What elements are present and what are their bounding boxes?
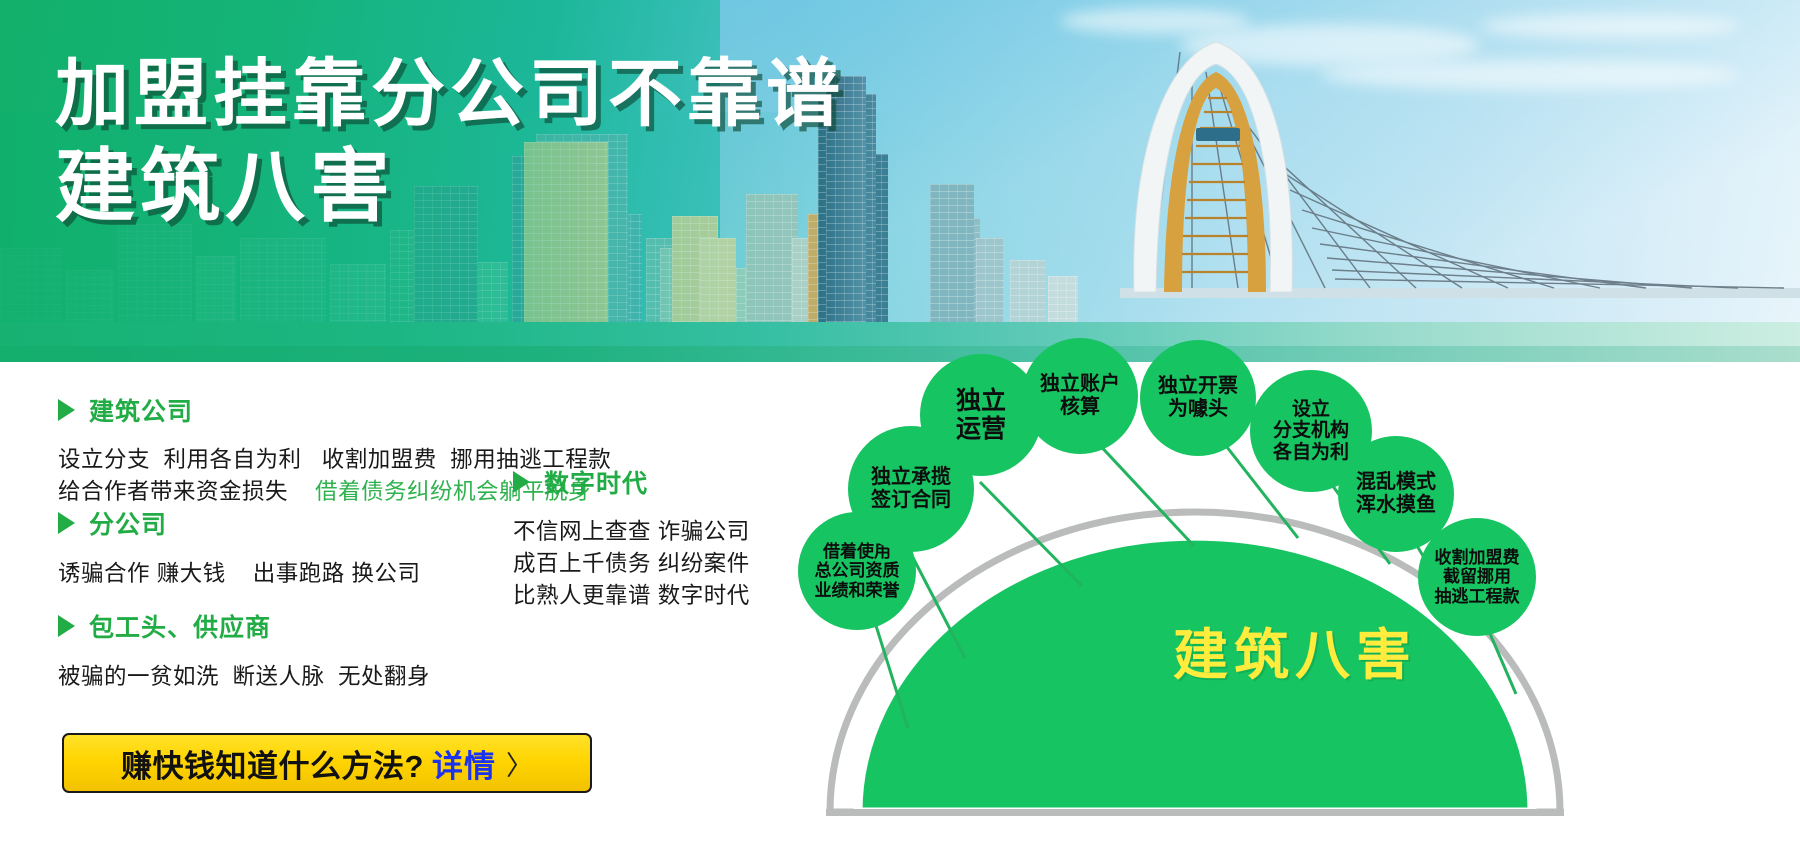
bubble-text: 独立承揽签订合同 [871,466,951,512]
dome-center-label: 建筑八害 [790,610,1800,690]
section-title: 分公司 [89,505,167,541]
cloud-decoration [1060,8,1250,34]
triangle-bullet-icon [58,399,75,421]
bubble-3[interactable]: 独立运营 [920,354,1042,476]
bubble-text: 独立运营 [956,387,1006,444]
hero-title: 加盟挂靠分公司不靠谱 建筑八害 [55,55,845,230]
section-title: 包工头、供应商 [89,608,271,644]
bubble-diagram: 借着使用总公司资质业绩和荣誉 独立承揽签订合同 独立运营 独立账户核算 独立开票… [790,332,1800,844]
hero-title-line2: 建筑八害 [55,145,845,230]
cta-question-label: 赚快钱知道什么方法? [121,741,424,786]
body-line: 比熟人更靠谱 数字时代 [513,580,750,612]
triangle-bullet-icon [58,512,75,534]
section-body: 诱骗合作 赚大钱 出事跑路 换公司 [58,558,421,590]
triangle-bullet-icon [58,615,75,637]
bubble-text: 收割加盟费截留挪用抽逃工程款 [1435,548,1520,606]
section-heading: 分公司 [58,505,421,541]
section-branch-company: 分公司 诱骗合作 赚大钱 出事跑路 换公司 [58,505,421,590]
cta-detail-link[interactable]: 详情 [432,741,496,786]
bubble-text: 混乱模式浑水摸鱼 [1356,471,1436,517]
body-line: 不信网上查查 诈骗公司 [513,516,750,548]
section-body: 不信网上查查 诈骗公司 成百上千债务 纠纷案件 比熟人更靠谱 数字时代 [513,516,750,612]
bubble-text: 独立开票为噱头 [1158,375,1238,421]
section-contractor-supplier: 包工头、供应商 被骗的一贫如洗 断送人脉 无处翻身 [58,608,430,693]
section-title: 数字时代 [544,464,648,500]
bubble-text: 独立账户核算 [1040,373,1120,419]
body-line: 被骗的一贫如洗 断送人脉 无处翻身 [58,661,430,693]
section-heading: 包工头、供应商 [58,608,430,644]
cta-button[interactable]: 赚快钱知道什么方法? 详情 〉 [62,733,592,793]
section-heading: 建筑公司 [58,392,611,428]
hero-title-line1: 加盟挂靠分公司不靠谱 [55,55,845,133]
triangle-bullet-icon [513,471,530,493]
section-title: 建筑公司 [89,392,193,428]
bubble-4[interactable]: 独立账户核算 [1022,338,1138,454]
bubble-text: 设立分支机构各自为利 [1273,399,1349,464]
bubble-5[interactable]: 独立开票为噱头 [1140,340,1256,456]
section-digital-era: 数字时代 不信网上查查 诈骗公司 成百上千债务 纠纷案件 比熟人更靠谱 数字时代 [513,464,750,612]
hero-banner: 加盟挂靠分公司不靠谱 建筑八害 [0,0,1800,362]
bubble-text: 借着使用总公司资质业绩和荣誉 [815,542,900,600]
body-line: 成百上千债务 纠纷案件 [513,548,750,580]
section-body: 被骗的一贫如洗 断送人脉 无处翻身 [58,661,430,693]
body-line: 诱骗合作 赚大钱 出事跑路 换公司 [58,558,421,590]
section-heading: 数字时代 [513,464,750,500]
chevron-right-icon: 〉 [506,744,533,783]
bridge-illustration [1120,32,1800,332]
